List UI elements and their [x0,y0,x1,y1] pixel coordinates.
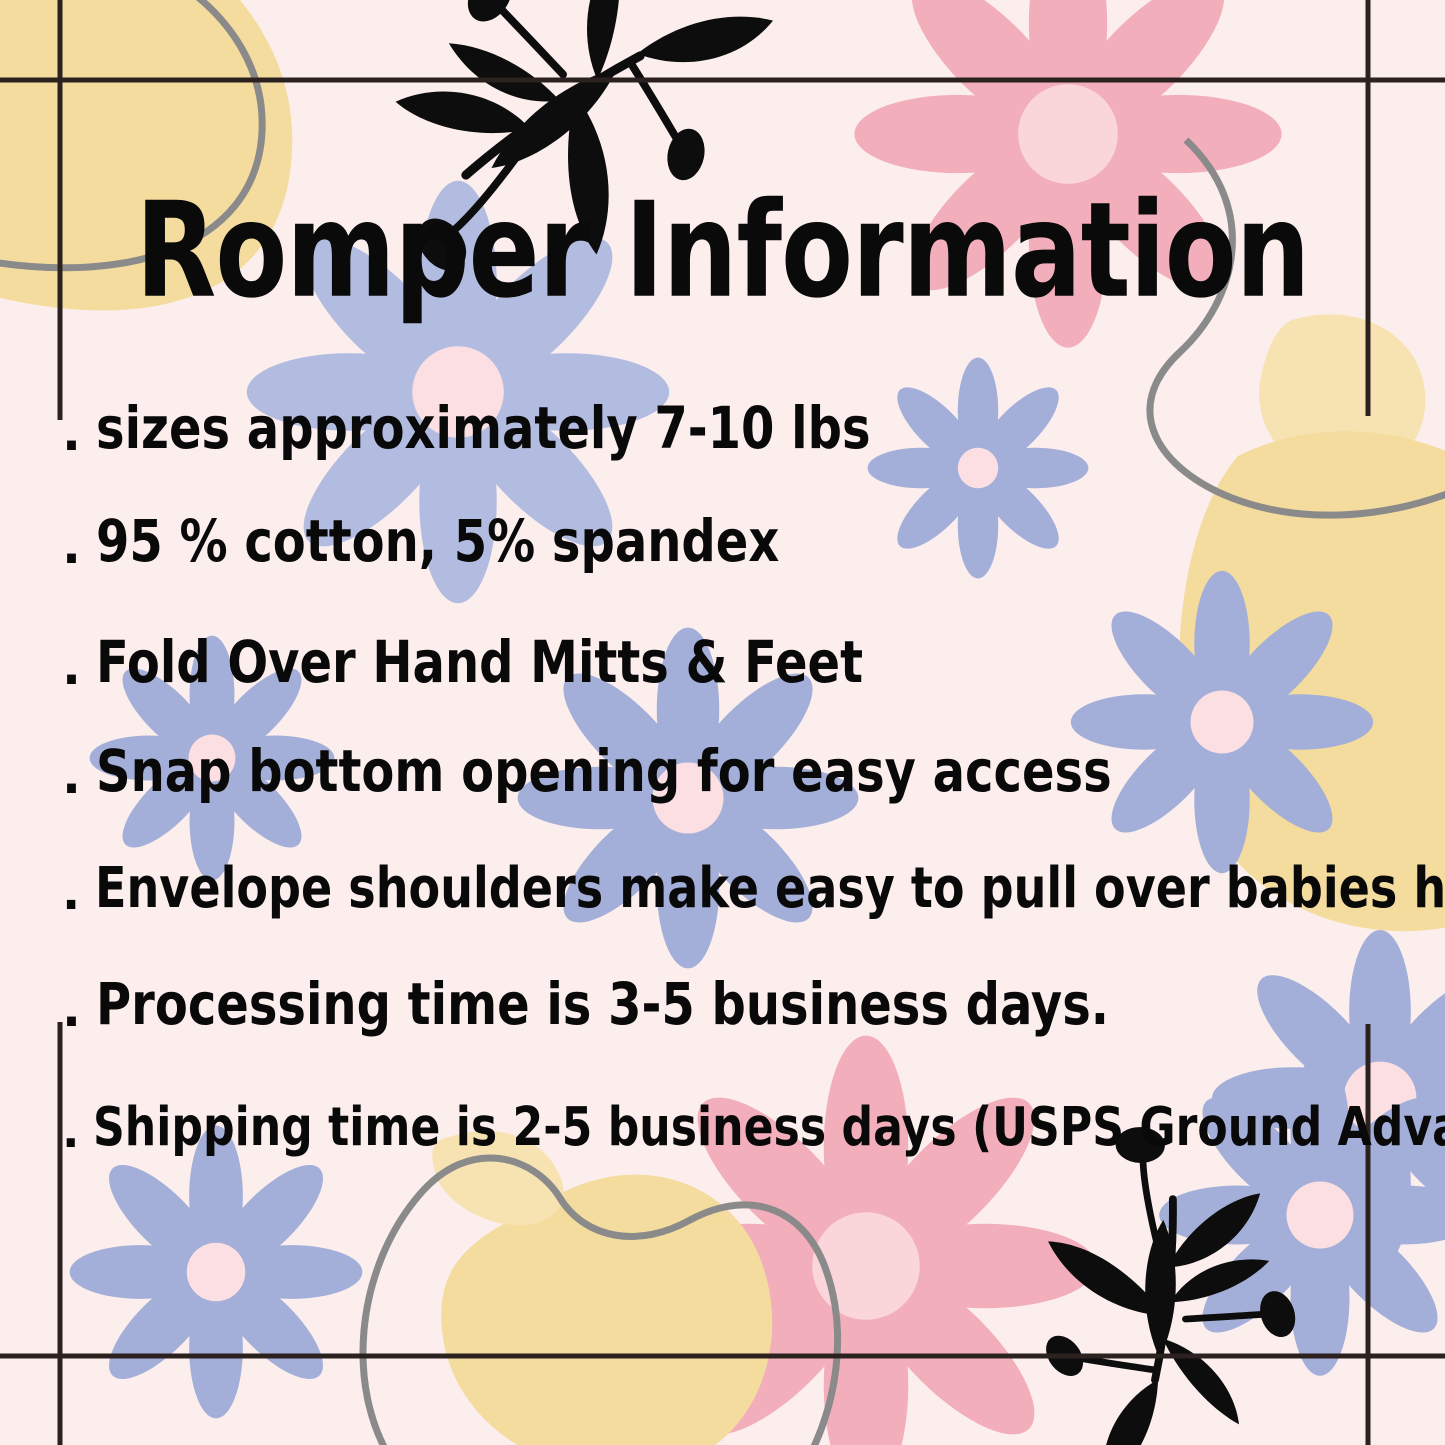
blue-daisy-mid-center [518,628,859,969]
blue-daisy-mid-left [90,636,335,881]
blue-daisy-upper-right [868,358,1089,579]
blue-daisy-right [1071,571,1373,873]
blue-daisy-bottom-left [70,1126,363,1419]
poster-canvas: Romper Information . sizes approximately… [0,0,1445,1445]
decorative-art-layer [0,0,1445,1445]
